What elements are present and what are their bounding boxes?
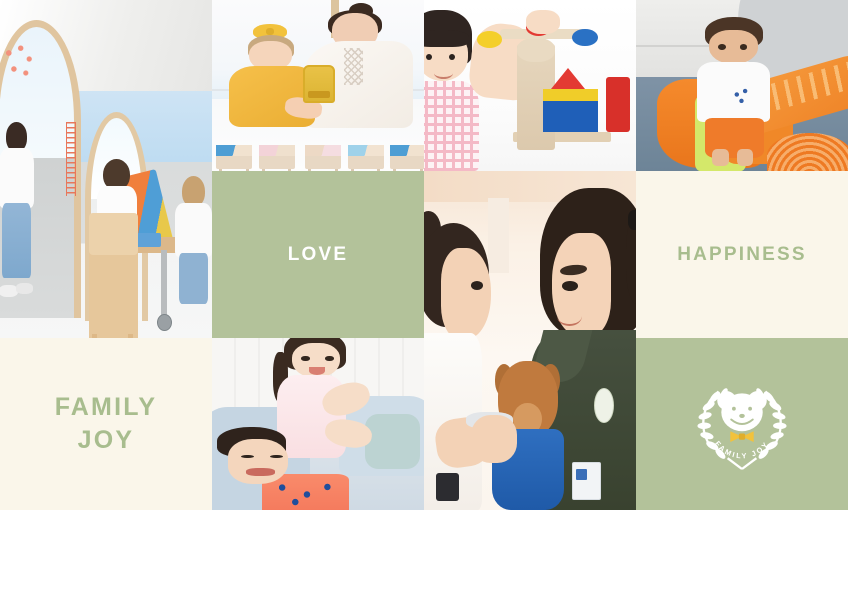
- girl-with-blocks-photo: [424, 0, 636, 171]
- wooden-chair: [89, 250, 138, 338]
- nursery-classroom-photo: [0, 0, 212, 338]
- mother-and-girl-photo: [212, 0, 424, 171]
- bear-head-icon: [717, 391, 767, 431]
- toddler-on-slide-image: [636, 0, 848, 171]
- girl-with-blocks-image: [424, 0, 636, 171]
- nursery-classroom-image: [0, 0, 212, 338]
- toddler-on-slide-photo: [636, 0, 848, 171]
- siblings-on-bed-photo: [212, 338, 424, 510]
- mother-and-girl-image: [212, 0, 424, 171]
- id-card: [572, 462, 602, 501]
- family-joy-bear-logo: FAMILY JOY: [688, 370, 796, 478]
- block-cylinder: [517, 38, 555, 62]
- happiness-label: HAPPINESS: [677, 242, 807, 267]
- uniform-badge: [594, 388, 614, 423]
- blue-ball-block: [572, 29, 597, 46]
- family-joy-word-panel: FAMILY JOY: [0, 338, 212, 510]
- toy-table-row: [212, 127, 424, 171]
- blossom-decal: [2, 41, 36, 82]
- toddler-figure: [695, 17, 771, 161]
- family-joy-label: FAMILY JOY: [55, 391, 158, 457]
- wall-ladder-decal: [66, 122, 77, 196]
- child-hand: [471, 415, 518, 462]
- caregiver-and-child-photo: [424, 171, 636, 510]
- love-word-panel: LOVE: [212, 171, 424, 338]
- blue-box-block: [543, 101, 598, 132]
- striped-dome-toy: [767, 133, 848, 171]
- girl-figure: [424, 10, 479, 171]
- siblings-on-bed-image: [212, 338, 424, 510]
- red-cylinder-block: [606, 77, 629, 132]
- love-label: LOVE: [288, 242, 349, 267]
- yellow-toy-lamp: [303, 65, 335, 103]
- red-triangle-block: [551, 68, 585, 89]
- logo-panel: FAMILY JOY: [636, 338, 848, 510]
- pillow-green: [365, 414, 420, 469]
- walking-teacher-figure: [0, 122, 42, 298]
- photo-collage-grid: LOVE H: [0, 0, 848, 510]
- boy-figure: [212, 427, 343, 510]
- child-seated-figure: [174, 176, 212, 304]
- happiness-word-panel: HAPPINESS: [636, 171, 848, 338]
- bow-tie-icon: [730, 431, 753, 442]
- girl-hand: [526, 10, 560, 34]
- table-caster: [157, 314, 172, 331]
- wrist-watch: [436, 473, 459, 500]
- yellow-ball-block: [477, 31, 502, 48]
- caregiver-and-child-image: [424, 171, 636, 510]
